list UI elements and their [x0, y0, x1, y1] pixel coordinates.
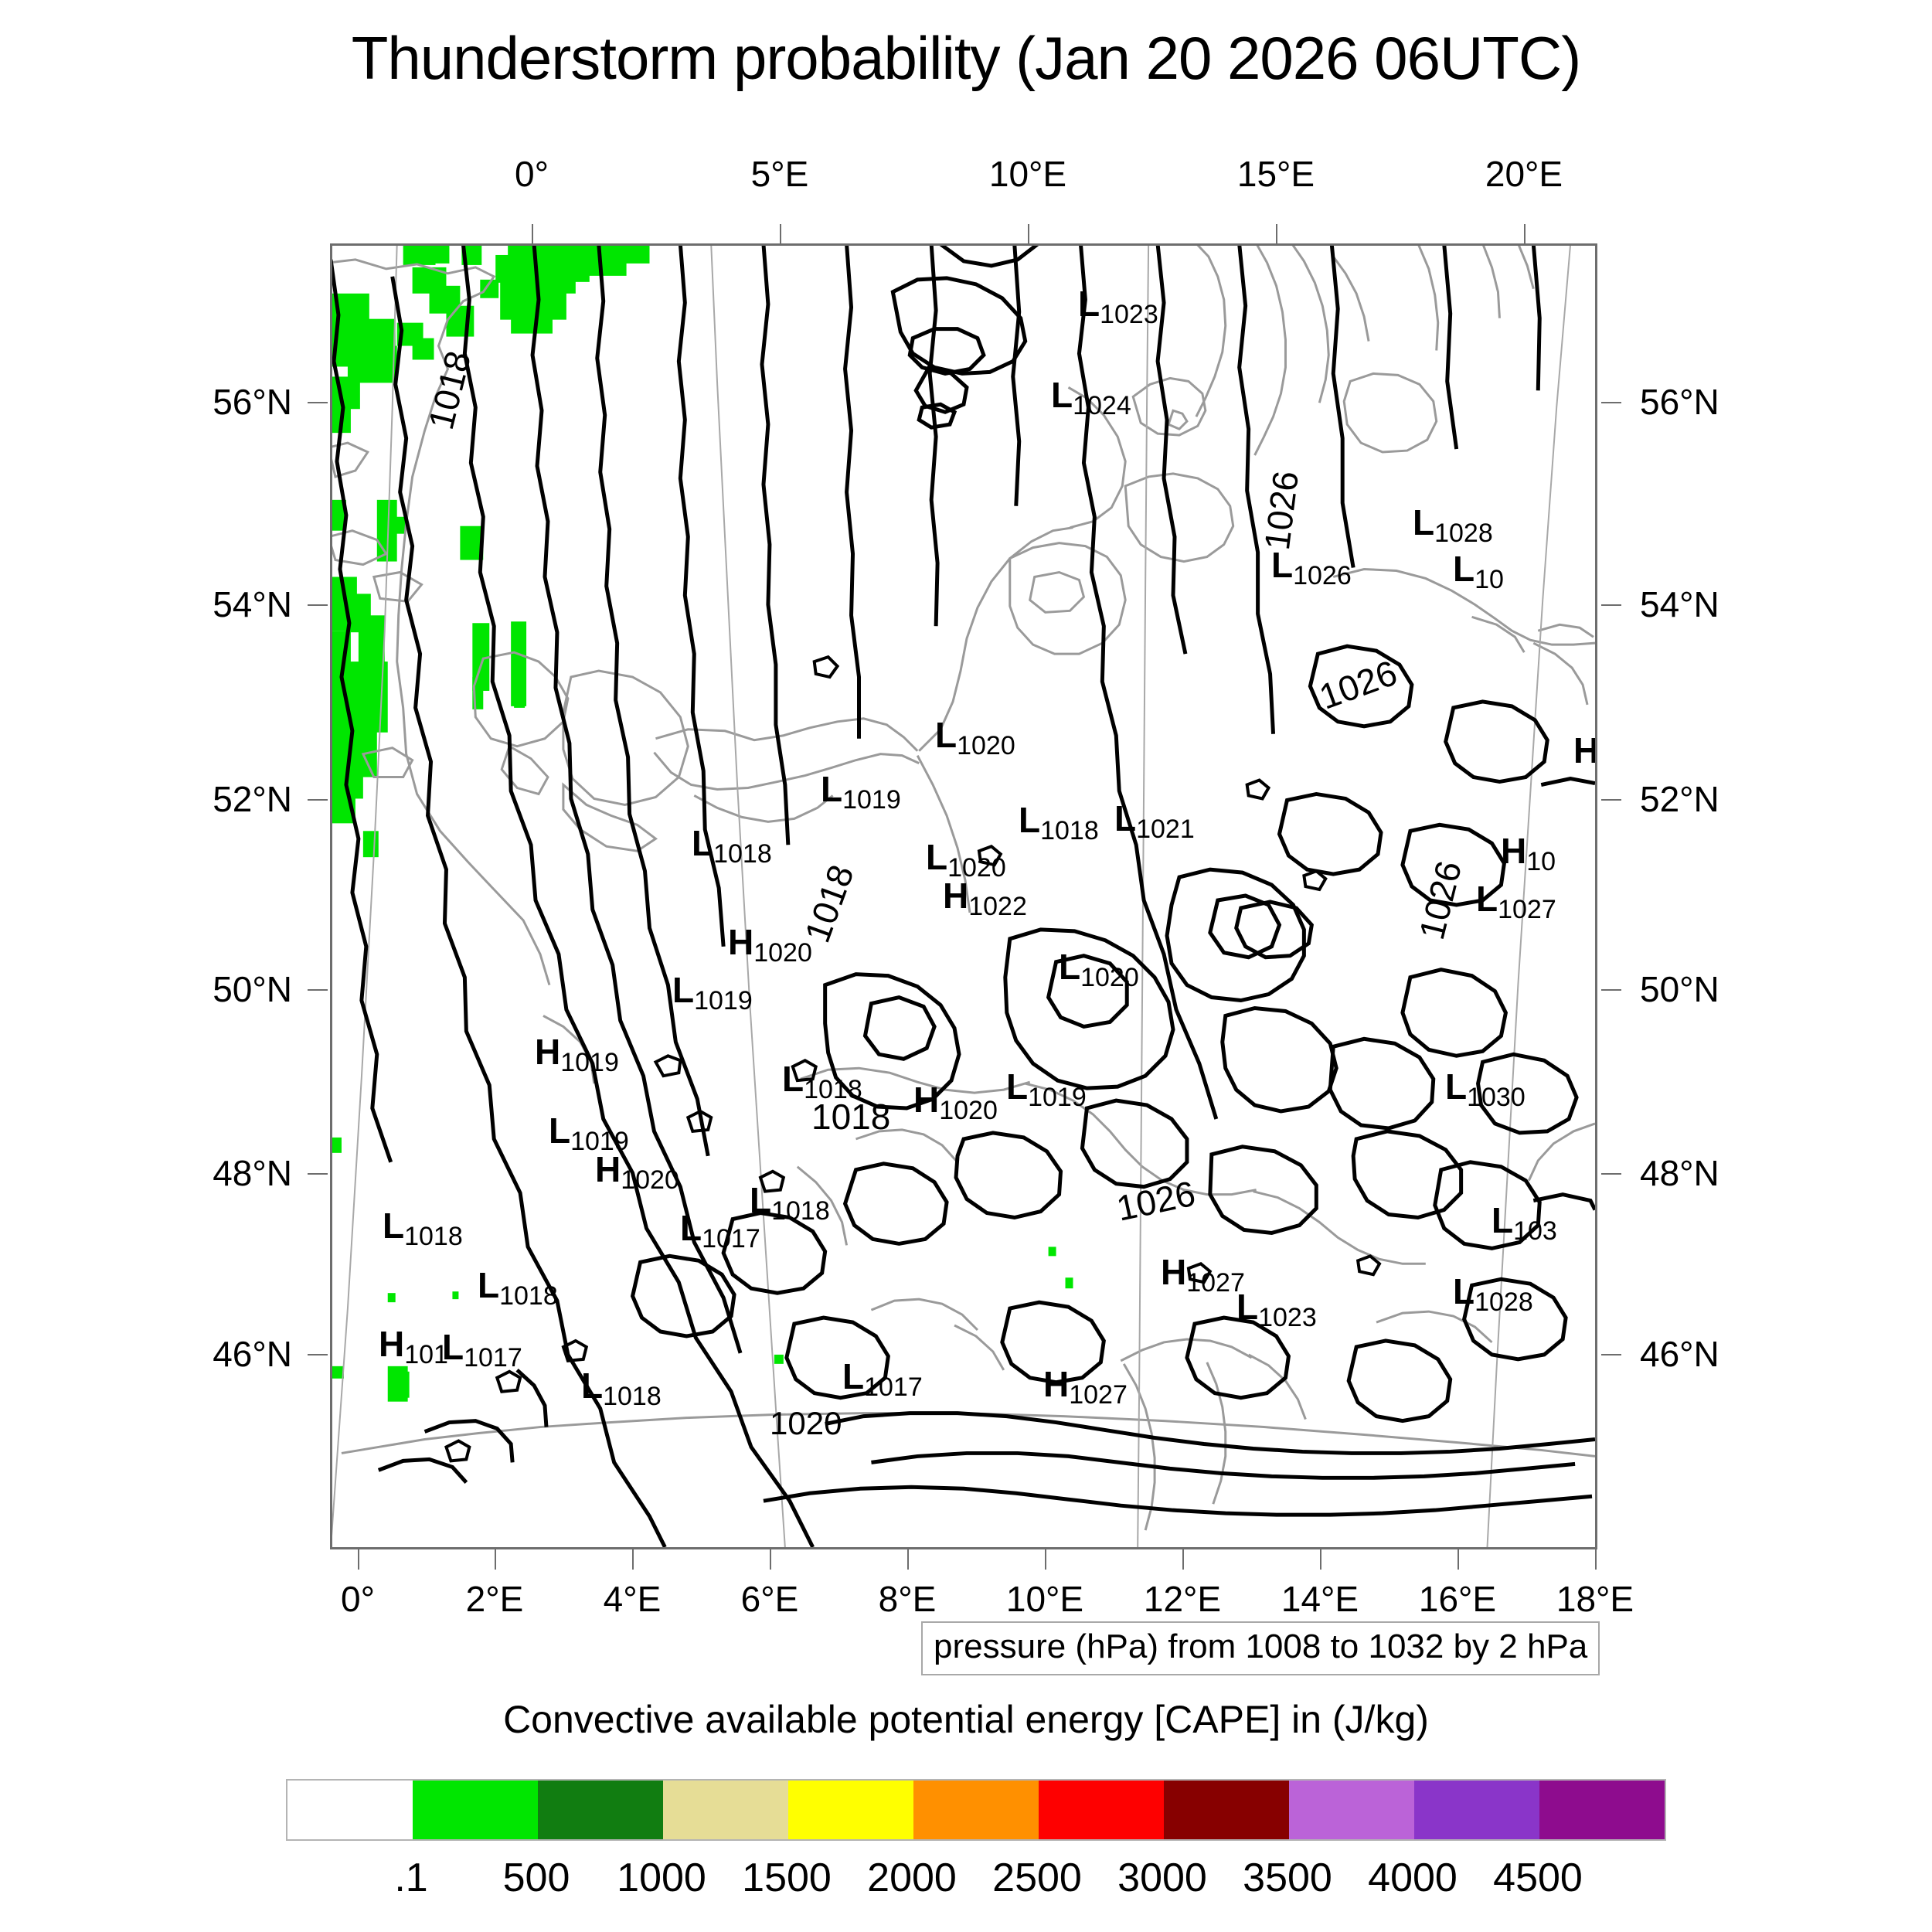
- axis-label-top-1: 5°E: [751, 153, 809, 195]
- tick-top-0: [532, 224, 533, 244]
- cape-color-segment-5[interactable]: [913, 1781, 1039, 1839]
- axis-label-left-4: 48°N: [161, 1152, 292, 1194]
- high-label-2: H1020: [728, 924, 812, 960]
- contour-value-1020-a: 1020: [770, 1405, 842, 1442]
- axis-label-bottom-0: 0°: [341, 1578, 375, 1620]
- low-label-17: L1030: [1445, 1069, 1526, 1104]
- low-label-9: L1021: [1114, 801, 1195, 836]
- tick-right-5: [1601, 1354, 1621, 1355]
- cape-tick-label-0: .1: [394, 1855, 427, 1901]
- tick-bottom-9: [1595, 1549, 1597, 1570]
- axis-label-right-2: 52°N: [1640, 778, 1719, 820]
- axis-label-right-3: 50°N: [1640, 968, 1719, 1010]
- tick-bottom-5: [1045, 1549, 1046, 1570]
- axis-label-bottom-2: 4°E: [604, 1578, 662, 1620]
- low-label-25: L1018: [478, 1267, 558, 1303]
- page-title: Thunderstorm probability (Jan 20 2026 06…: [0, 23, 1932, 94]
- tick-bottom-1: [495, 1549, 496, 1570]
- cape-tick-label-4: 2000: [867, 1855, 957, 1901]
- tick-bottom-0: [358, 1549, 359, 1570]
- low-label-16: L1019: [1006, 1069, 1087, 1104]
- high-label-1: H1022: [943, 878, 1027, 913]
- cape-color-segment-10[interactable]: [1539, 1781, 1665, 1839]
- low-label-22: L103: [1492, 1202, 1557, 1238]
- cape-colorbar[interactable]: [286, 1779, 1666, 1841]
- high-label-7: H101: [379, 1326, 448, 1362]
- tick-left-3: [308, 989, 328, 991]
- low-label-13: L1019: [672, 972, 753, 1008]
- tick-right-1: [1601, 604, 1621, 606]
- cape-tick-label-7: 3500: [1243, 1855, 1332, 1901]
- axis-label-bottom-1: 2°E: [466, 1578, 524, 1620]
- tick-left-5: [308, 1354, 328, 1355]
- axis-label-left-2: 52°N: [161, 778, 292, 820]
- low-label-11: L1020: [926, 839, 1006, 875]
- axis-label-right-4: 48°N: [1640, 1152, 1719, 1194]
- cape-legend-title: Convective available potential energy [C…: [0, 1697, 1932, 1742]
- tick-bottom-7: [1320, 1549, 1321, 1570]
- tick-top-1: [780, 224, 781, 244]
- cape-color-segment-7[interactable]: [1164, 1781, 1289, 1839]
- axis-label-bottom-5: 10°E: [1006, 1578, 1083, 1620]
- high-label-6: H1027: [1161, 1254, 1245, 1290]
- low-label-18: L1019: [549, 1113, 629, 1148]
- low-label-5: L1026: [1271, 547, 1352, 583]
- cape-tick-label-1: 500: [503, 1855, 570, 1901]
- low-marker: L: [1078, 284, 1100, 324]
- low-value: 1023: [1100, 300, 1158, 329]
- cape-color-segment-8[interactable]: [1289, 1781, 1414, 1839]
- cape-color-segment-4[interactable]: [788, 1781, 913, 1839]
- axis-label-right-5: 46°N: [1640, 1333, 1719, 1375]
- cape-tick-label-6: 3000: [1117, 1855, 1207, 1901]
- axis-label-left-5: 46°N: [161, 1333, 292, 1375]
- map-plot-area[interactable]: 1018 1018 1026 1026 1026 1026 1018 1020 …: [330, 243, 1597, 1549]
- low-label-6: L1020: [935, 717, 1015, 753]
- tick-top-4: [1524, 224, 1526, 244]
- tick-top-3: [1276, 224, 1277, 244]
- low-label-2: L1024: [1051, 377, 1131, 413]
- tick-top-2: [1028, 224, 1029, 244]
- cape-colorbar-labels: .150010001500200025003000350040004500: [286, 1855, 1666, 1909]
- low-label-19: L1018: [383, 1208, 463, 1243]
- cape-color-segment-1[interactable]: [413, 1781, 538, 1839]
- high-label-edge-2: H10: [1501, 833, 1556, 869]
- axis-label-bottom-7: 14°E: [1281, 1578, 1359, 1620]
- tick-bottom-2: [632, 1549, 634, 1570]
- low-label-23: L1023: [1236, 1289, 1317, 1325]
- low-label-10: L1018: [692, 825, 772, 861]
- axis-label-top-4: 20°E: [1485, 153, 1563, 195]
- cape-tick-label-9: 4500: [1493, 1855, 1583, 1901]
- low-label-28: L1017: [842, 1359, 923, 1394]
- cape-color-segment-9[interactable]: [1414, 1781, 1539, 1839]
- high-label-8: H1027: [1043, 1366, 1128, 1402]
- tick-left-4: [308, 1173, 328, 1175]
- axis-label-left-3: 50°N: [161, 968, 292, 1010]
- cape-tick-label-2: 1000: [617, 1855, 706, 1901]
- axis-label-top-0: 0°: [515, 153, 549, 195]
- tick-bottom-6: [1182, 1549, 1184, 1570]
- tick-right-4: [1601, 1173, 1621, 1175]
- high-label-5: H1020: [595, 1151, 679, 1187]
- low-label-12: L1027: [1476, 881, 1556, 917]
- axis-label-left-1: 54°N: [161, 583, 292, 625]
- cape-tick-label-8: 4000: [1368, 1855, 1458, 1901]
- axis-label-right-0: 56°N: [1640, 381, 1719, 423]
- tick-bottom-4: [907, 1549, 909, 1570]
- low-label-27: L1018: [581, 1368, 662, 1403]
- low-label-8: L1018: [1019, 802, 1099, 838]
- tick-left-1: [308, 604, 328, 606]
- axis-label-bottom-8: 16°E: [1419, 1578, 1496, 1620]
- axis-label-bottom-9: 18°E: [1556, 1578, 1634, 1620]
- tick-left-2: [308, 799, 328, 801]
- low-label-15: L1018: [782, 1061, 862, 1097]
- low-label-26: L1017: [442, 1329, 522, 1365]
- pressure-caption: pressure (hPa) from 1008 to 1032 by 2 hP…: [921, 1621, 1600, 1675]
- axis-label-bottom-3: 6°E: [741, 1578, 799, 1620]
- tick-bottom-3: [770, 1549, 771, 1570]
- cape-color-segment-2[interactable]: [538, 1781, 663, 1839]
- low-label-24: L1028: [1453, 1274, 1533, 1309]
- axis-label-bottom-4: 8°E: [879, 1578, 937, 1620]
- low-label-14: L1020: [1059, 949, 1139, 985]
- axis-label-top-3: 15°E: [1237, 153, 1315, 195]
- low-label-20: L1018: [750, 1182, 830, 1218]
- tick-bottom-8: [1458, 1549, 1459, 1570]
- tick-right-0: [1601, 402, 1621, 403]
- axis-label-right-1: 54°N: [1640, 583, 1719, 625]
- cape-color-segment-6[interactable]: [1039, 1781, 1164, 1839]
- axis-label-left-0: 56°N: [161, 381, 292, 423]
- low-label-21: L1017: [680, 1210, 760, 1246]
- low-label-7: L1019: [821, 771, 901, 807]
- tick-right-2: [1601, 799, 1621, 801]
- high-label-3: H1019: [535, 1034, 619, 1070]
- axis-label-top-2: 10°E: [989, 153, 1066, 195]
- axis-label-bottom-6: 12°E: [1144, 1578, 1221, 1620]
- high-label-4: H1020: [913, 1082, 998, 1117]
- low-label-4: L10: [1453, 551, 1504, 587]
- tick-left-0: [308, 402, 328, 403]
- high-label-edge: H: [1573, 733, 1597, 768]
- cape-tick-label-3: 1500: [742, 1855, 832, 1901]
- cape-color-segment-0[interactable]: [287, 1781, 413, 1839]
- cape-tick-label-5: 2500: [992, 1855, 1082, 1901]
- cape-color-segment-3[interactable]: [663, 1781, 788, 1839]
- tick-right-3: [1601, 989, 1621, 991]
- low-label-3: L1028: [1413, 505, 1493, 540]
- low-label-1: L1023: [1078, 286, 1158, 321]
